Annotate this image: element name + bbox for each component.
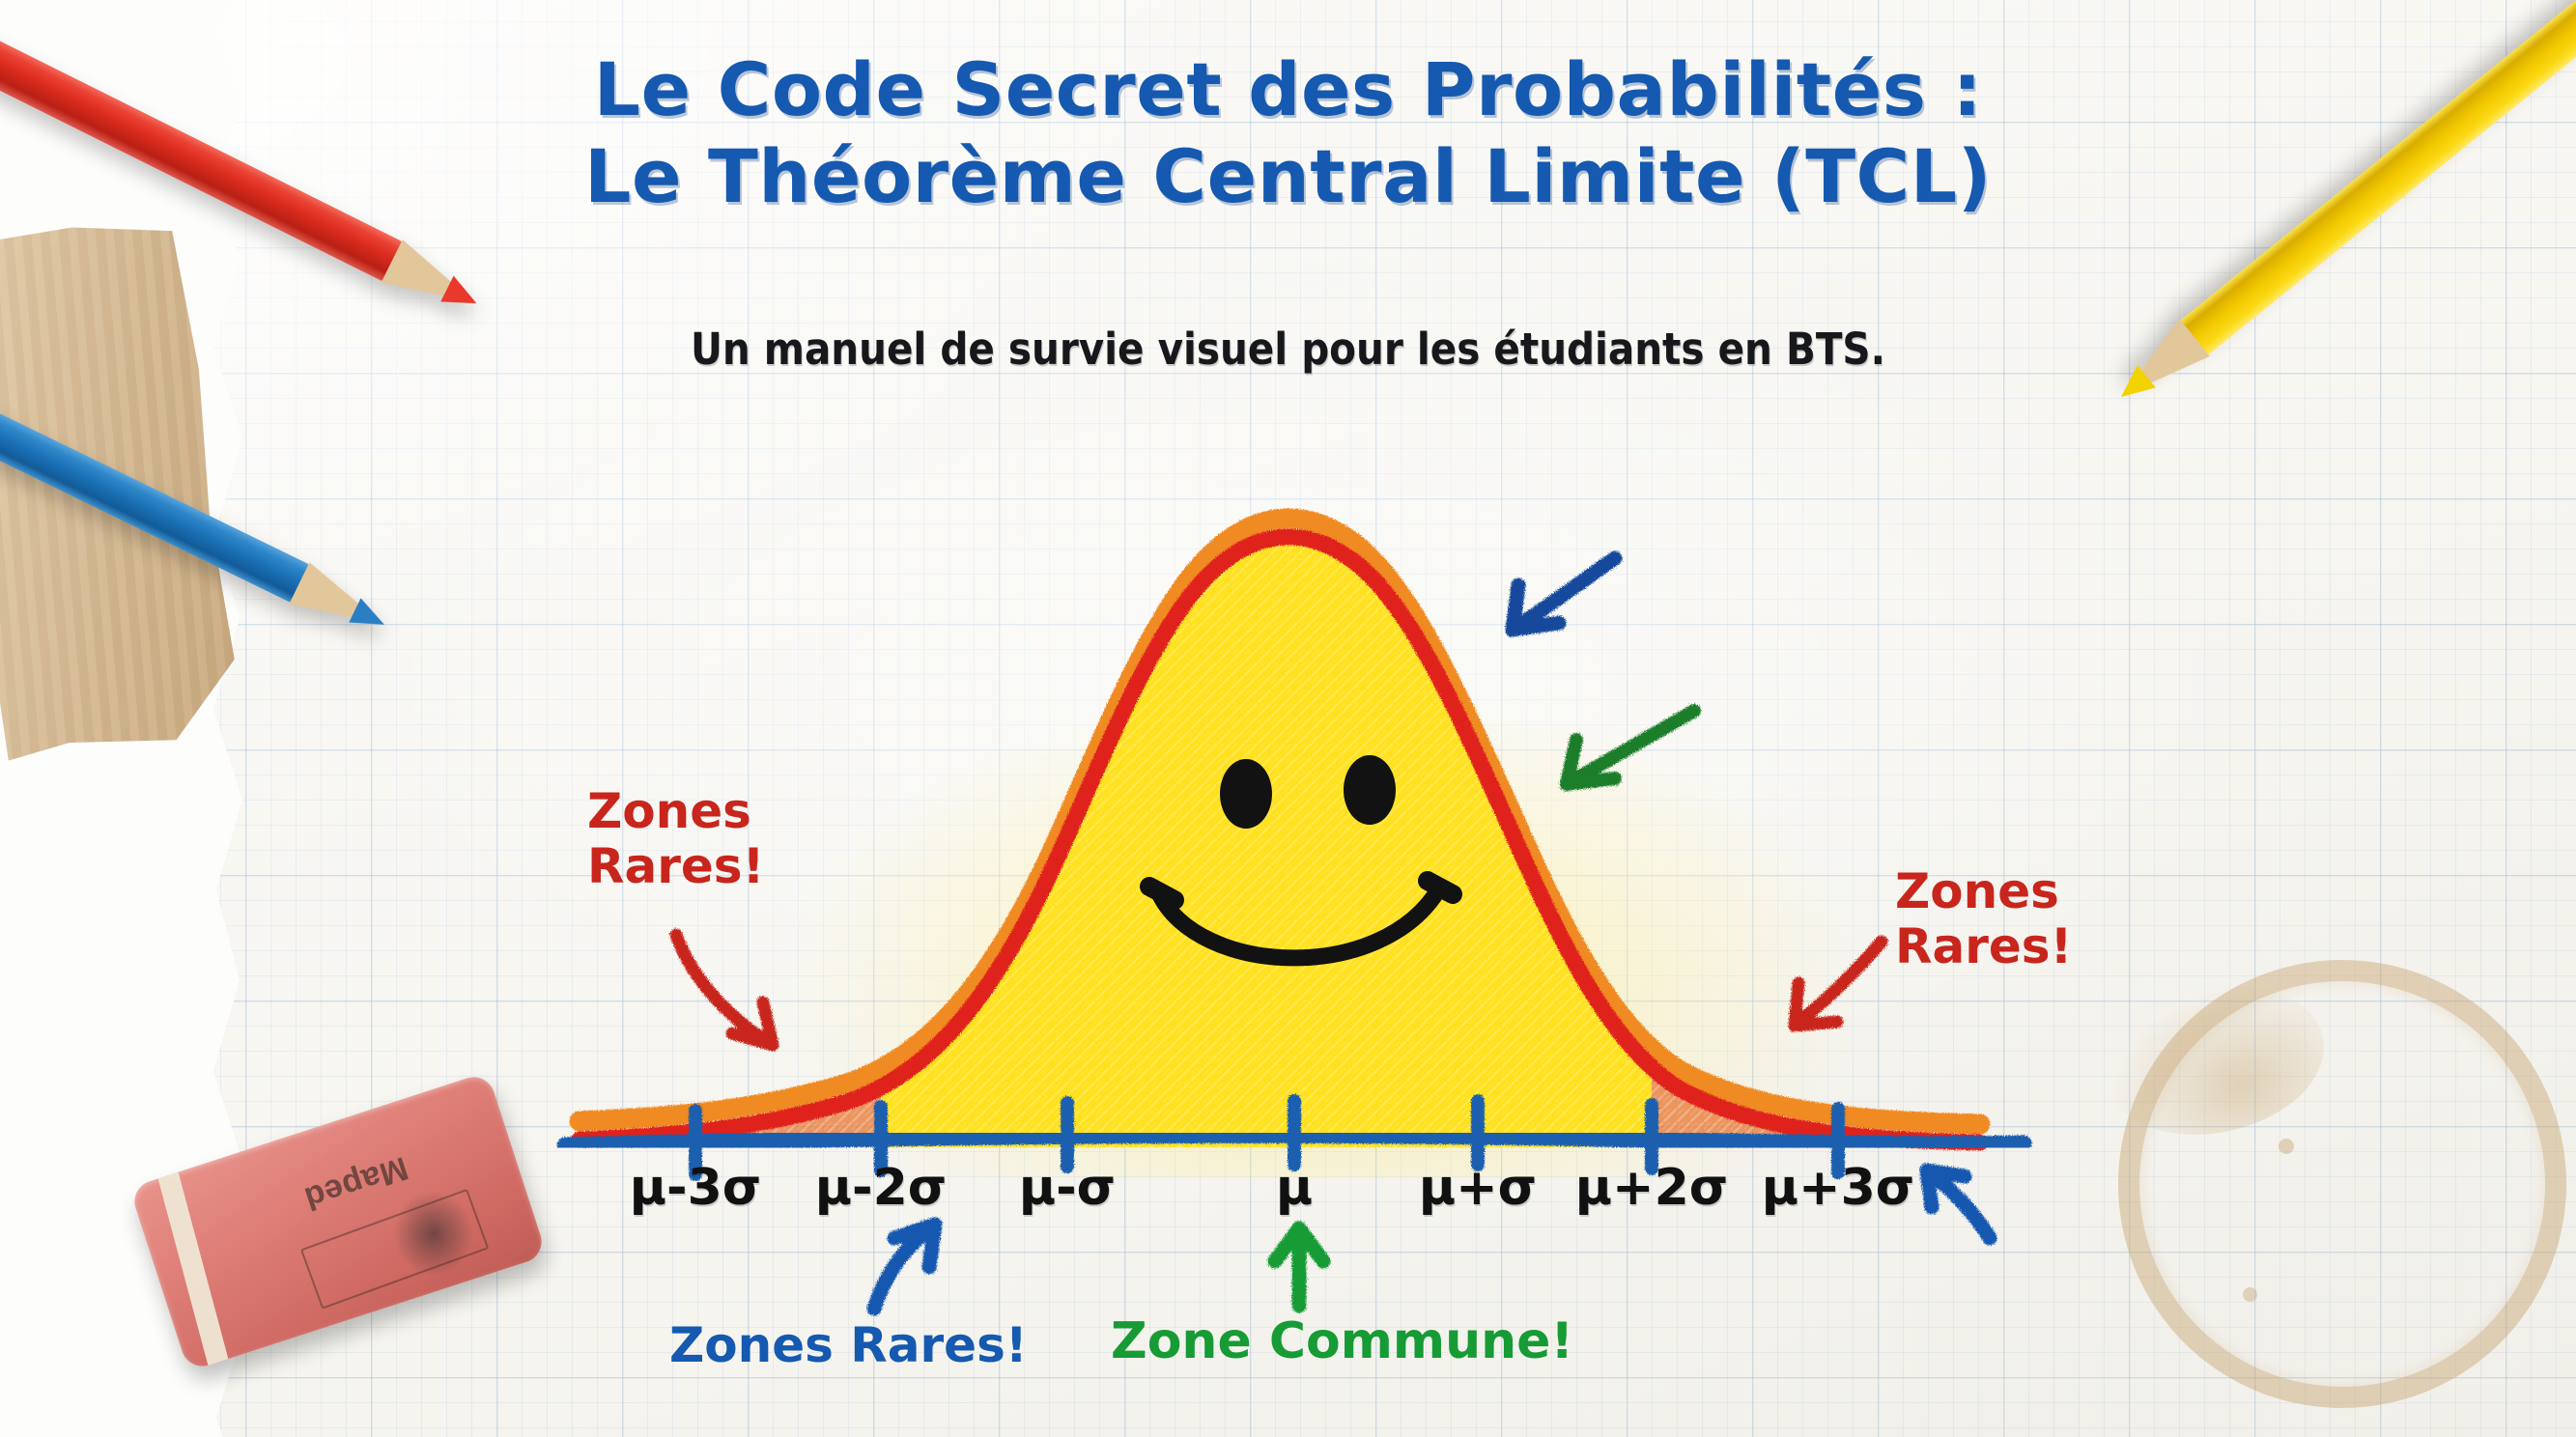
annotation-common-zone: Zone Commune! (1111, 1313, 1573, 1370)
tick-label-mu: μ (1276, 1159, 1313, 1217)
tick-label-mu-minus-3-sigma: μ-3σ (630, 1159, 762, 1217)
annotation-rare-zones-right: Zones Rares! (1895, 864, 2072, 974)
title-line-2: Le Théorème Central Limite (TCL) (0, 133, 2576, 220)
annotation-rare-zones-bottom: Zones Rares! (669, 1318, 1028, 1373)
tick-label-mu-plus-3-sigma: μ+3σ (1762, 1159, 1915, 1217)
page-subtitle: Un manuel de survie visuel pour les étud… (0, 324, 2576, 375)
whiteboard-poster: Maped Le Code Secret des Probabilités : … (0, 0, 2576, 1437)
tick-label-mu-plus-2-sigma: μ+2σ (1575, 1159, 1729, 1217)
title-line-1: Le Code Secret des Probabilités : (594, 46, 1983, 132)
tick-label-mu-minus-2-sigma: μ-2σ (815, 1159, 948, 1217)
annotation-rare-zones-left: Zones Rares! (587, 784, 764, 894)
page-title: Le Code Secret des Probabilités : Le Thé… (0, 46, 2576, 219)
axis-tick-labels: μ-3σ μ-2σ μ-σ μ μ+σ μ+2σ μ+3σ (0, 1159, 2576, 1246)
tick-label-mu-plus-sigma: μ+σ (1419, 1159, 1537, 1217)
tick-label-mu-minus-sigma: μ-σ (1019, 1159, 1116, 1217)
